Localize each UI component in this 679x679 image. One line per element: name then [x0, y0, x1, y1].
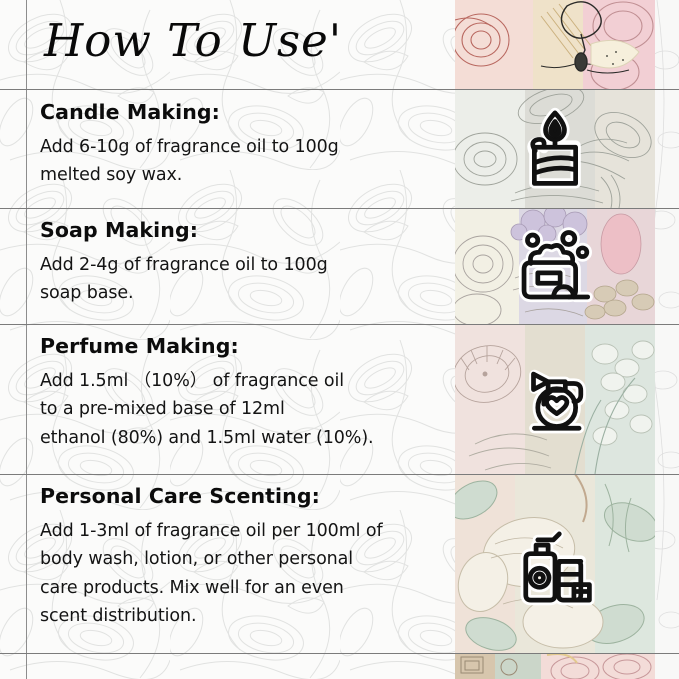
- body-line: Add 6-10g of fragrance oil to 100g: [40, 133, 444, 161]
- page-title: How To Use': [44, 14, 342, 67]
- section-heading-candle-making: Candle Making:: [40, 100, 444, 124]
- photo-cell-personal-care: [455, 474, 655, 653]
- photo-cell-soap: [455, 208, 655, 324]
- body-line: Add 2-4g of fragrance oil to 100g: [40, 251, 444, 279]
- divider-after-personalcare: [0, 653, 679, 654]
- lotion-bottles-icon: [512, 521, 598, 607]
- photo-column: [455, 0, 655, 679]
- section-body-soap-making: Add 2-4g of fragrance oil to 100g soap b…: [40, 251, 444, 308]
- section-heading-perfume-making: Perfume Making:: [40, 334, 444, 358]
- right-edge-texture-strip: [655, 0, 679, 679]
- photo-cell-roses-bottom: [455, 653, 655, 679]
- divider-after-title: [0, 89, 679, 90]
- rose-photo-top: [455, 0, 655, 89]
- section-personal-care-scenting: Personal Care Scenting: Add 1-3ml of fra…: [40, 484, 444, 630]
- body-line: to a pre-mixed base of 12ml: [40, 395, 444, 423]
- photo-cell-roses-top: [455, 0, 655, 89]
- section-perfume-making: Perfume Making: Add 1.5ml （10%） of fragr…: [40, 334, 444, 452]
- divider-after-perfume: [0, 474, 679, 475]
- divider-after-soap: [0, 324, 679, 325]
- body-line: Add 1.5ml （10%） of fragrance oil: [40, 367, 444, 395]
- section-heading-soap-making: Soap Making:: [40, 218, 444, 242]
- body-line: melted soy wax.: [40, 161, 444, 189]
- section-body-perfume-making: Add 1.5ml （10%） of fragrance oil to a pr…: [40, 367, 444, 452]
- body-line: scent distribution.: [40, 602, 444, 630]
- section-body-personal-care-scenting: Add 1-3ml of fragrance oil per 100ml of …: [40, 517, 444, 630]
- photo-cell-candle: [455, 89, 655, 208]
- body-line: soap base.: [40, 279, 444, 307]
- body-line: ethanol (80%) and 1.5ml water (10%).: [40, 424, 444, 452]
- section-body-candle-making: Add 6-10g of fragrance oil to 100g melte…: [40, 133, 444, 190]
- section-heading-personal-care-scenting: Personal Care Scenting:: [40, 484, 444, 508]
- candle-icon: [512, 106, 598, 192]
- body-line: care products. Mix well for an even: [40, 574, 444, 602]
- perfume-bottle-icon: [512, 356, 598, 442]
- section-candle-making: Candle Making: Add 6-10g of fragrance oi…: [40, 100, 444, 190]
- rose-photo-bottom: [455, 653, 655, 679]
- how-to-use-infographic: How To Use' Candle Making: Add 6-10g of …: [0, 0, 679, 679]
- soap-bar-icon: [512, 223, 598, 309]
- photo-cell-perfume: [455, 324, 655, 474]
- divider-after-candle: [0, 208, 679, 209]
- body-line: Add 1-3ml of fragrance oil per 100ml of: [40, 517, 444, 545]
- body-line: body wash, lotion, or other personal: [40, 545, 444, 573]
- section-soap-making: Soap Making: Add 2-4g of fragrance oil t…: [40, 218, 444, 308]
- left-vertical-rule: [26, 0, 27, 679]
